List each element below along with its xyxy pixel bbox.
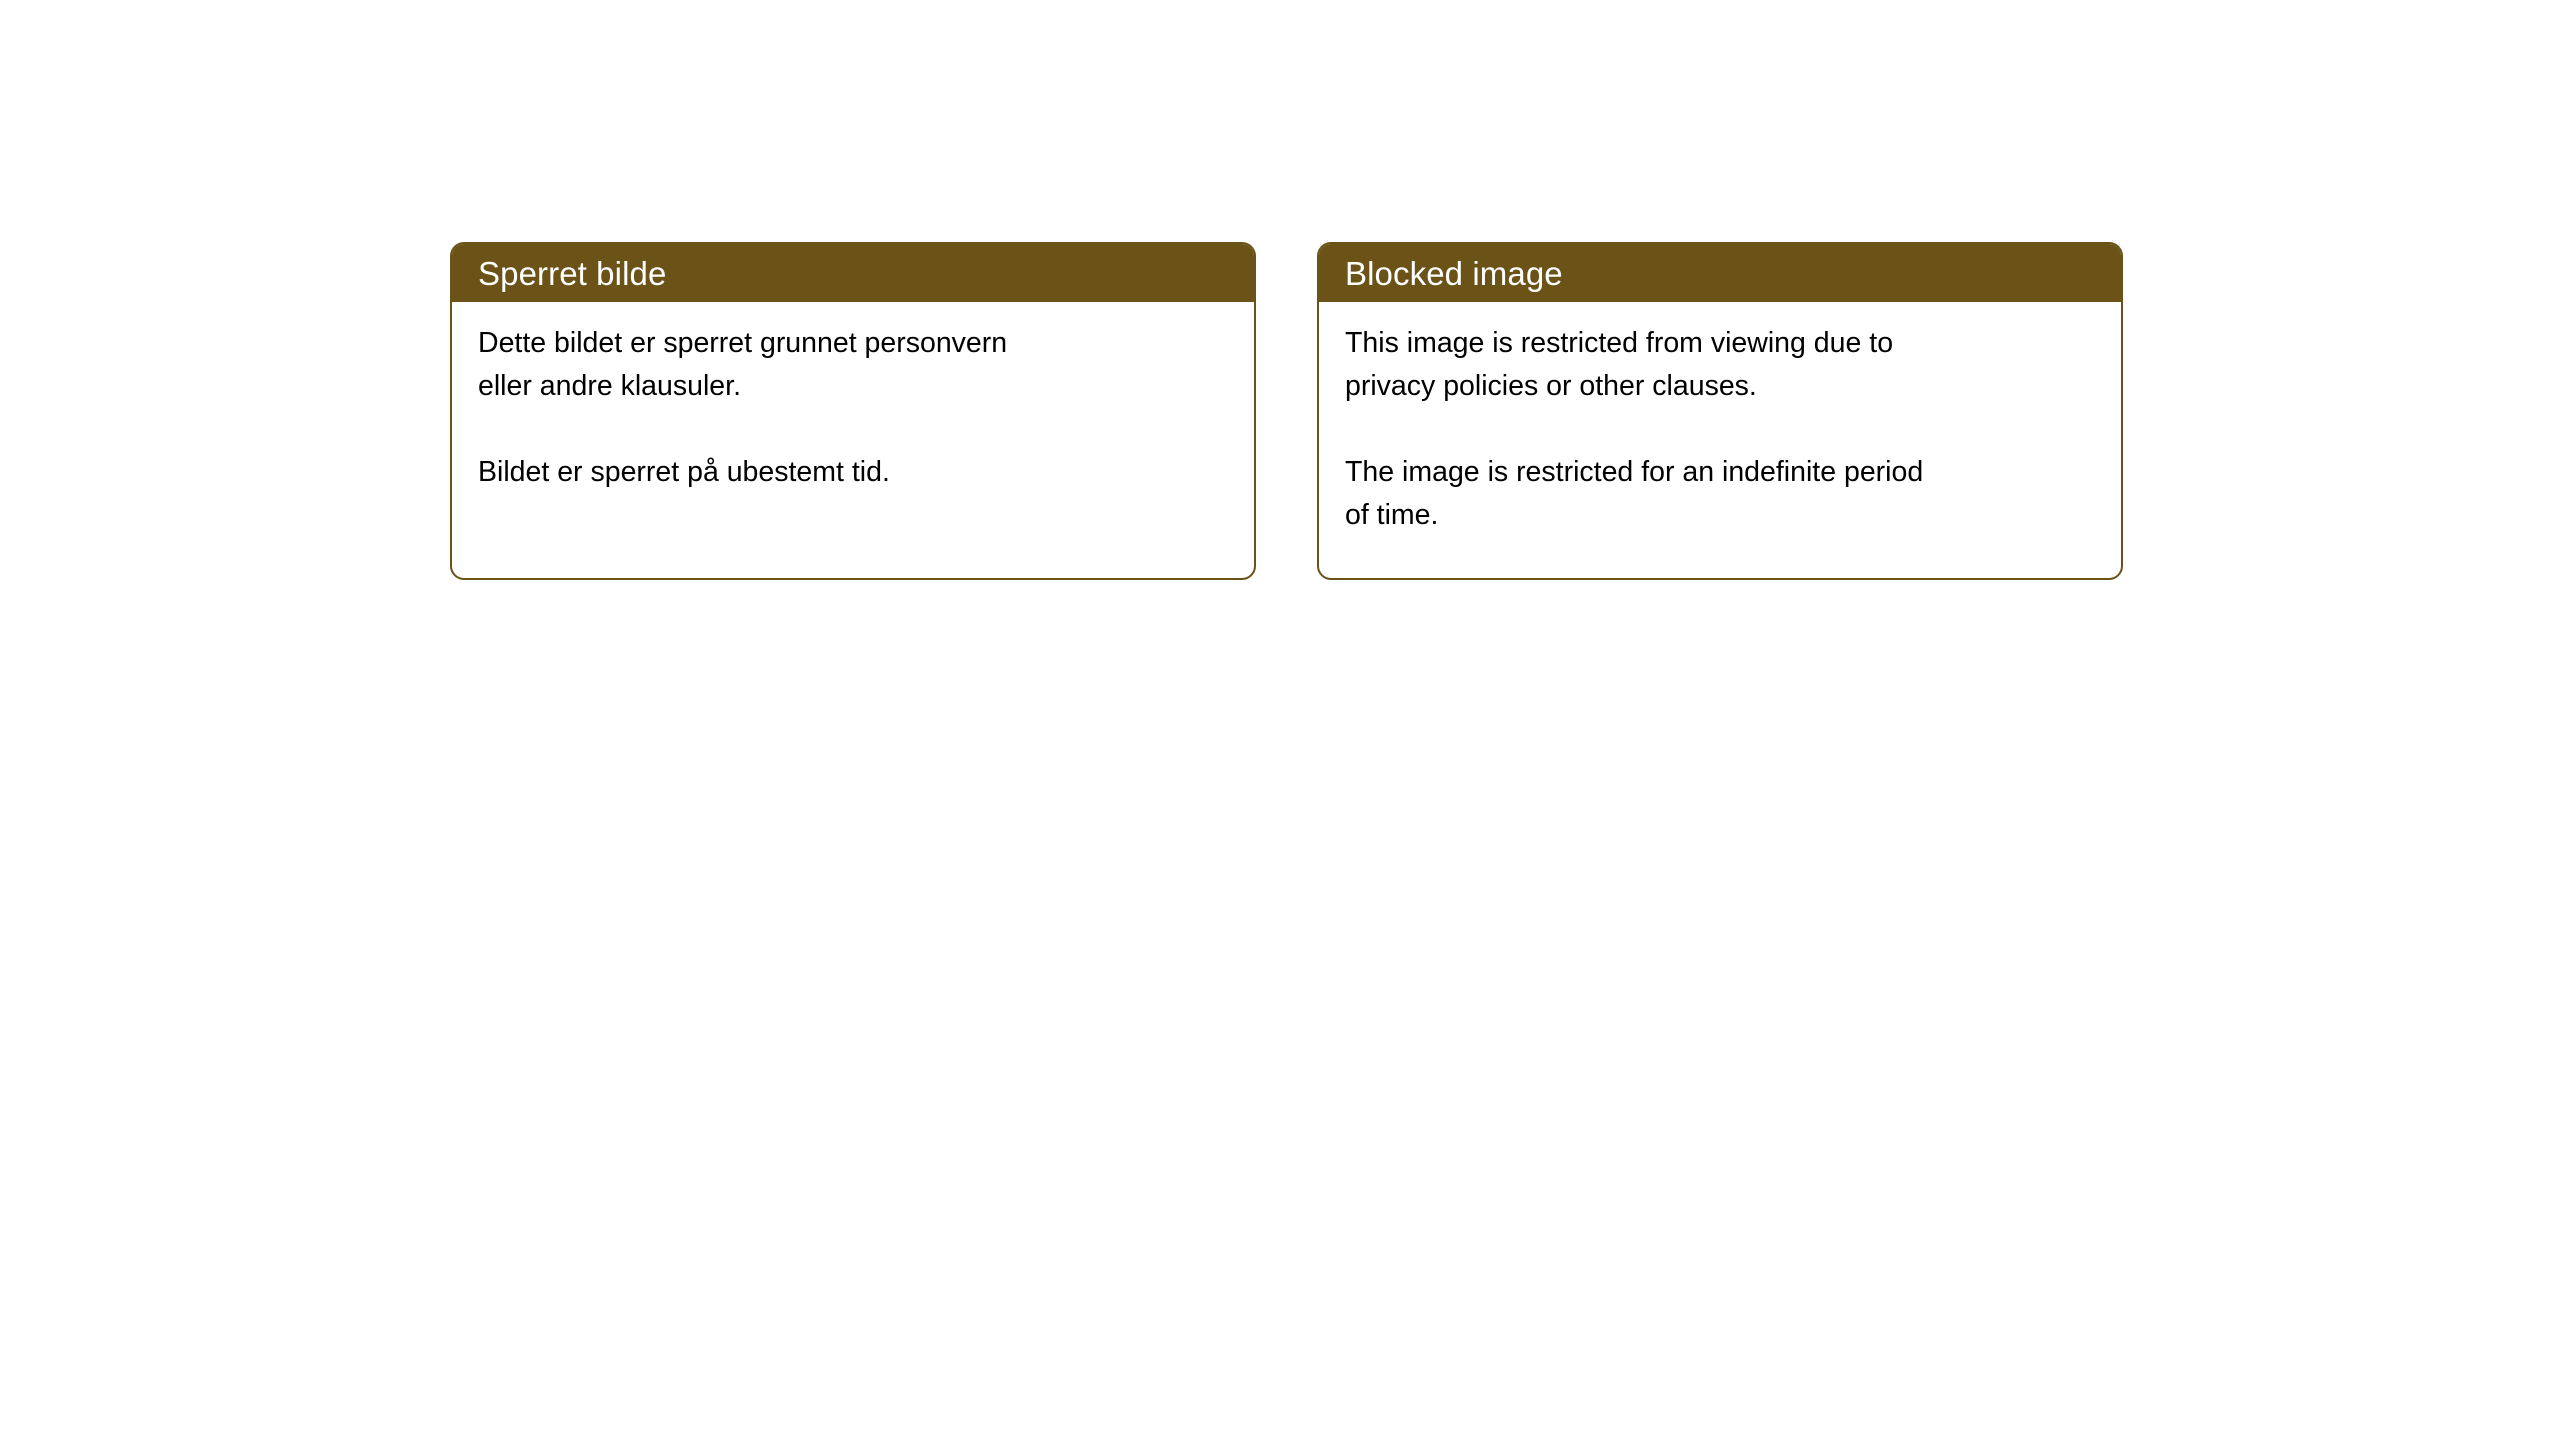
card-body-english: This image is restricted from viewing du… <box>1319 302 2121 578</box>
card-body-norwegian: Dette bildet er sperret grunnet personve… <box>452 302 1254 578</box>
card-header-english: Blocked image <box>1319 244 2121 302</box>
card-paragraph-primary-norwegian: Dette bildet er sperret grunnet personve… <box>478 322 1218 408</box>
card-title-english: Blocked image <box>1345 257 1563 290</box>
blocked-image-notice-area: Sperret bilde Dette bildet er sperret gr… <box>450 242 2123 580</box>
blocked-image-card-english: Blocked image This image is restricted f… <box>1317 242 2123 580</box>
paragraph-spacer <box>478 408 1228 451</box>
card-header-norwegian: Sperret bilde <box>452 244 1254 302</box>
card-paragraph-secondary-norwegian: Bildet er sperret på ubestemt tid. <box>478 451 1218 494</box>
card-paragraph-secondary-english: The image is restricted for an indefinit… <box>1345 451 2085 537</box>
blocked-image-card-norwegian: Sperret bilde Dette bildet er sperret gr… <box>450 242 1256 580</box>
card-title-norwegian: Sperret bilde <box>478 257 666 290</box>
paragraph-spacer <box>1345 408 2095 451</box>
card-paragraph-primary-english: This image is restricted from viewing du… <box>1345 322 2085 408</box>
